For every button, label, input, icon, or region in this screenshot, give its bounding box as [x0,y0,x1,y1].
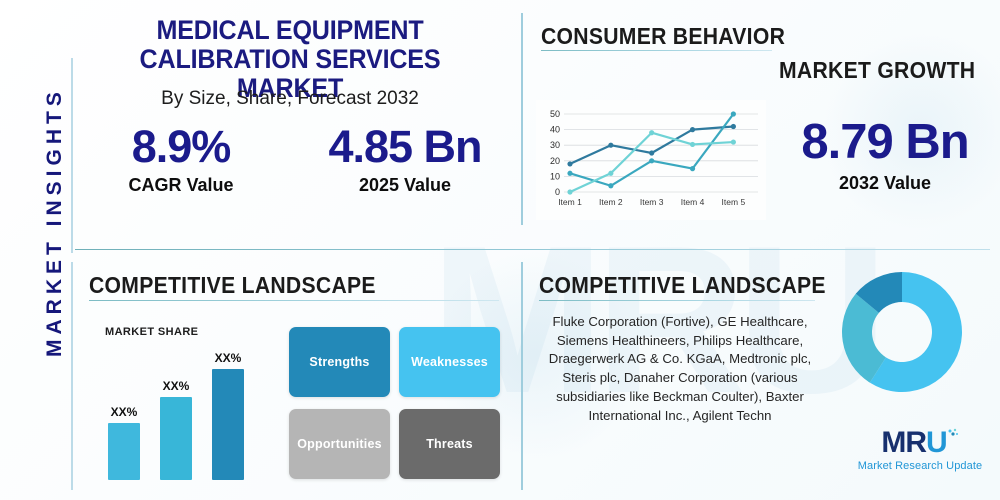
market-share-bar [160,397,192,480]
market-share-bar-label: XX% [204,351,252,365]
underline-consumer-behavior [541,50,772,51]
svg-text:Item 5: Item 5 [722,197,746,207]
infographic-canvas: MRU MARKET INSIGHTS MEDICAL EQUIPMENT CA… [0,0,1000,500]
market-share-donut-chart [838,268,966,396]
underline-competitive-landscape-right [539,300,815,301]
divider-center-vertical-bottom [521,262,523,490]
logo-dots-icon [947,428,959,442]
swot-box-threats[interactable]: Threats [399,409,500,479]
swot-box-opportunities[interactable]: Opportunities [289,409,390,479]
kpi-cagr-value: 8.9% [86,124,276,169]
swot-label-threats: Threats [426,437,473,451]
sidebar-vertical-label: MARKET INSIGHTS [43,97,67,357]
market-share-bar-label: XX% [152,379,200,393]
svg-text:30: 30 [550,140,560,150]
market-share-bar-label: XX% [100,405,148,419]
swot-label-opportunities: Opportunities [297,437,382,451]
divider-horizontal-main [75,249,990,250]
kpi-2025-value: 4.85 Bn [300,124,510,169]
kpi-cagr-label: CAGR Value [86,175,276,196]
logo-letter-m: M [881,426,905,459]
market-share-title: MARKET SHARE [105,326,198,338]
kpi-cagr: 8.9% CAGR Value [86,124,276,196]
logo-tagline: Market Research Update [852,460,988,472]
kpi-2032-value: 8.79 Bn [775,118,995,167]
divider-left-vertical-top [71,58,73,253]
swot-box-weaknesses[interactable]: Weaknesses [399,327,500,397]
section-heading-competitive-landscape-left: COMPETITIVE LANDSCAPE [89,272,376,299]
logo-letter-r: R [905,426,926,459]
competitor-list: Fluke Corporation (Fortive), GE Healthca… [545,313,815,425]
svg-text:40: 40 [550,125,560,135]
svg-text:Item 4: Item 4 [681,197,705,207]
consumer-behavior-line-chart: 01020304050 Item 1Item 2Item 3Item 4Item… [536,100,766,220]
svg-text:20: 20 [550,156,560,166]
svg-text:Item 2: Item 2 [599,197,623,207]
logo-wordmark: MRU [852,428,988,458]
svg-text:50: 50 [550,109,560,119]
divider-left-vertical-bottom [71,262,73,490]
section-heading-competitive-landscape-right: COMPETITIVE LANDSCAPE [539,272,826,299]
kpi-2025-label: 2025 Value [300,175,510,196]
market-share-bar [212,369,244,481]
kpi-2032-label: 2032 Value [775,173,995,194]
swot-box-strengths[interactable]: Strengths [289,327,390,397]
market-share-bar [108,423,140,480]
section-heading-consumer-behavior: CONSUMER BEHAVIOR [541,23,785,50]
kpi-2025: 4.85 Bn 2025 Value [300,124,510,196]
underline-competitive-landscape-left [89,300,499,301]
svg-text:Item 1: Item 1 [558,197,582,207]
page-subtitle: By Size, Share, Forecast 2032 [75,88,505,110]
section-heading-market-growth: MARKET GROWTH [779,57,975,84]
swot-label-weaknesses: Weaknesses [411,355,488,369]
svg-text:10: 10 [550,171,560,181]
swot-label-strengths: Strengths [309,355,369,369]
logo-letter-u: U [926,426,947,459]
svg-text:Item 3: Item 3 [640,197,664,207]
svg-text:0: 0 [555,187,560,197]
kpi-2032: 8.79 Bn 2032 Value [775,118,995,194]
divider-center-vertical-top [521,13,523,225]
market-share-bar-chart: XX%XX%XX% [100,340,280,480]
brand-logo: MRU Market Research Update [852,428,988,472]
